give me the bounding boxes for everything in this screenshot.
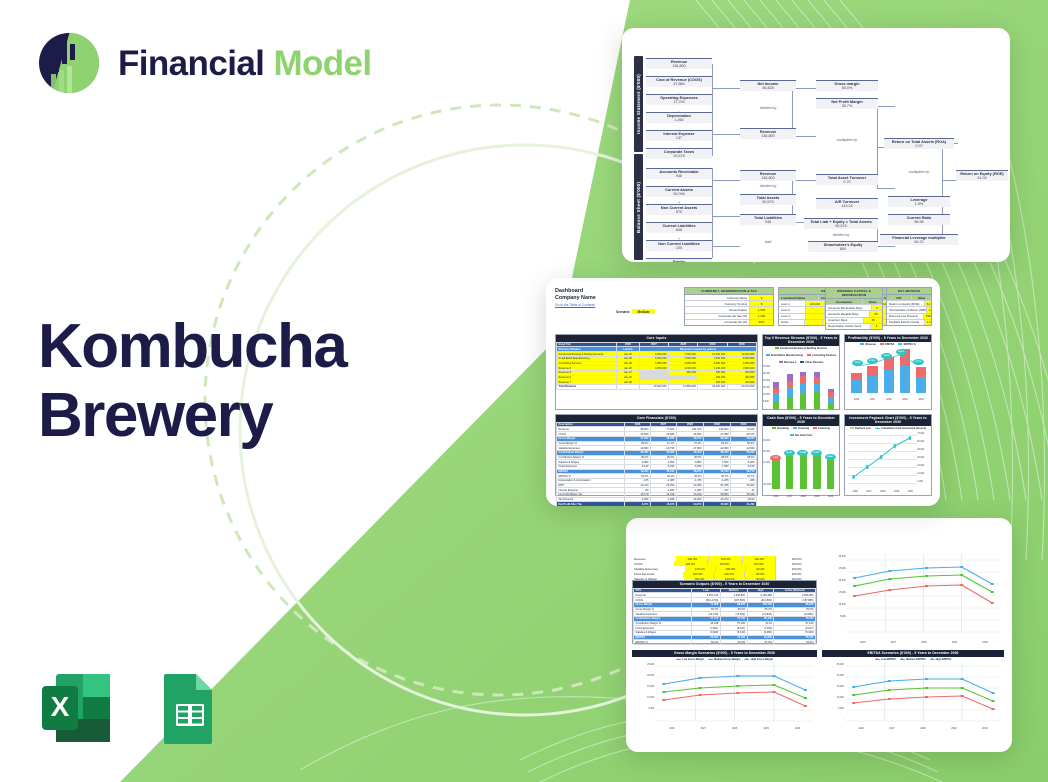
node-label: Equity xyxy=(646,260,712,263)
legend-item: Other Revenue xyxy=(800,361,823,364)
scenario-top-right-chart: 30,000 25,000 20,000 15,000 10,000 5,000… xyxy=(822,554,1004,646)
cell: Accounts Payable Days xyxy=(826,311,870,316)
cell: 61.03 xyxy=(925,301,931,306)
dashboard-toc-link[interactable]: Go to the Table of Contents xyxy=(555,303,596,307)
dupont-node: Net Profit Margin 35.7% xyxy=(816,98,878,109)
cell: Corporate tax rate (%) xyxy=(685,314,750,319)
bar-group xyxy=(773,382,779,409)
dupont-operator: divided by xyxy=(810,233,872,237)
node-value: 144.24 xyxy=(816,204,878,209)
bar-group xyxy=(787,374,793,408)
slide-canvas: Financial Model Kombucha Brewery X xyxy=(0,0,1048,782)
core-financials-body: Description 2026 2027 2028 2029 2030 Rev… xyxy=(556,422,757,506)
col: Loan/Grant Name xyxy=(779,295,819,300)
dupont-operator: divided by xyxy=(738,106,798,110)
legend-item: Payback year xyxy=(850,427,871,430)
currency-table: CURRENCY, DENOMINATION & TAX Currency Na… xyxy=(684,287,774,326)
legend-item: Net Cash Flow xyxy=(790,434,812,437)
x-axis: 2026 2027 2028 2029 2030 xyxy=(848,490,917,493)
panel-cash-flow: Cash flow ($'000) - 5 Years to December … xyxy=(762,414,840,496)
scenario-selector[interactable]: Scenario Medium xyxy=(616,309,655,314)
scenario-outputs-table: KPIs Low Medium High Active (Medium) Rev… xyxy=(633,588,816,645)
cell: 8,073 xyxy=(625,502,651,506)
cell[interactable]: 28 xyxy=(870,311,882,316)
panel-core-inputs: Core Inputs Excel Tab 2026 2027 2028 202… xyxy=(555,334,758,410)
node-value: 137 xyxy=(646,136,712,141)
node-value: 47,880 xyxy=(646,82,712,87)
brand-name-secondary: Model xyxy=(273,44,371,83)
core-financials-table: Description 2026 2027 2028 2029 2030 Rev… xyxy=(556,422,757,506)
panel-title: Core Financials ($'000) xyxy=(556,415,757,422)
panel-title: Core Inputs xyxy=(556,335,757,342)
cell: Grant xyxy=(779,320,805,325)
node-value: 60.22 xyxy=(880,240,958,245)
dupont-node: Corporate Taxes 20,676 xyxy=(646,148,712,159)
cell: Net Profit After Tax xyxy=(557,502,625,506)
cell: 144.1% xyxy=(927,307,931,312)
cell: EBITDA % xyxy=(634,640,692,645)
cell: 60.2% xyxy=(692,640,721,645)
circular-chart-logo-icon xyxy=(36,30,102,96)
node-value: 800 xyxy=(808,247,878,252)
dupont-node: Financial Leverage multiplier 60.22 xyxy=(880,234,958,245)
dupont-node: Cost of Revenue (COGS) 47,880 xyxy=(646,76,712,87)
data-label-bubble: 18,031 xyxy=(784,450,795,457)
legend-item: Cumulative Cash Investment (Source) xyxy=(875,427,926,430)
dupont-node: Accounts Receivable 948 xyxy=(646,168,712,179)
dupont-operator: multiplied by xyxy=(816,138,878,142)
key-metrics-table: KEY METRICS KPI Value Return on Equity (… xyxy=(886,287,932,326)
legend-item: High Gross Margin xyxy=(744,658,773,661)
table-row: Total Revenue20,300,00027,850,00030,400,… xyxy=(557,384,757,389)
cell: 20,300,000 xyxy=(639,384,668,389)
node-value: 848 xyxy=(646,228,712,233)
bar-group xyxy=(772,456,780,488)
legend-item: EBITDA % xyxy=(898,343,915,346)
bar-group xyxy=(800,453,808,489)
node-value: 50,576 xyxy=(740,200,796,205)
core-inputs-body: Excel Tab 2026 2027 2028 2029 2030 Reven… xyxy=(556,342,757,390)
panel-ebitda-scenarios: EBITDA Scenarios ($'000) - 5 Years to De… xyxy=(822,650,1004,736)
cell: Denomination xyxy=(685,307,750,312)
cell: Internal Rate of Return (IRR), % xyxy=(887,307,927,312)
panel-profitability: Profitability ($'000) - 5 Years to Decem… xyxy=(844,334,932,410)
panel-revenue-streams: Top 5 Revenue Streams ($'000) - 5 Years … xyxy=(762,334,840,410)
col: Value xyxy=(912,295,931,300)
node-value: 17,754 xyxy=(646,100,712,105)
panel-investment-payback: Investment Payback Chart ($'000) - 5 Yea… xyxy=(844,414,932,496)
dupont-node: Interest Expense 137 xyxy=(646,130,712,141)
revenue-streams-chart: 30,000 25,000 20,000 15,000 10,000 5,000 xyxy=(763,365,839,417)
x-axis: 2026 2027 2028 2029 2030 xyxy=(846,727,1001,730)
gross-margin-lines xyxy=(656,662,813,724)
cell: Corporate tax (%) xyxy=(685,320,750,325)
cell: Currency Symbol xyxy=(685,301,750,306)
x-axis: 2026 2027 2028 2029 2030 xyxy=(848,398,929,401)
cell[interactable]: 30% xyxy=(750,320,773,325)
x-axis: 2026 2027 2028 2029 2030 xyxy=(656,727,813,730)
node-value: 1,265 xyxy=(646,118,712,123)
legend-item: High EBITDA xyxy=(930,658,952,661)
dupont-node: Current Liabilities 848 xyxy=(646,222,712,233)
node-value: 58.98 xyxy=(888,220,950,225)
bar-group xyxy=(827,455,835,488)
node-value: 65.0% xyxy=(816,86,878,91)
screenshot-dashboard[interactable]: Dashboard Company Name Go to the Table o… xyxy=(546,278,940,506)
cell: 30,400,000 xyxy=(698,384,727,389)
legend-item: Low EBITDA xyxy=(875,658,896,661)
cell[interactable]: 3 xyxy=(872,305,882,310)
cell: Currency Name xyxy=(685,295,750,300)
dupont-node: Leverage 1.9% xyxy=(888,196,950,207)
cell: 21,290 xyxy=(731,502,757,506)
cell[interactable] xyxy=(805,320,824,325)
node-value: 0.97 xyxy=(884,144,954,149)
col: KPI xyxy=(887,295,912,300)
node-value: 948 xyxy=(740,220,796,225)
panel-core-financials: Core Financials ($'000) Description 2026… xyxy=(555,414,758,496)
dupont-node: Total Liabilities 948 xyxy=(740,214,796,225)
scenario-value[interactable]: Medium xyxy=(632,309,654,314)
cell: 57.0% xyxy=(747,640,774,645)
panel-title: Cash flow ($'000) - 5 Years to December … xyxy=(763,415,839,426)
node-value: 136,800 xyxy=(740,176,796,181)
cell: Payback Period (Years) xyxy=(887,320,925,325)
cell: 16,970 xyxy=(650,502,676,506)
payback-line xyxy=(848,431,917,487)
data-label-bubble: 38.7% xyxy=(896,349,907,356)
dashboard-title: Dashboard xyxy=(555,288,596,295)
cell: 548,128 xyxy=(924,314,931,319)
brand-name: Financial Model xyxy=(118,46,372,81)
dupont-node-roe: Return on Equity (ROE) 61.03 xyxy=(956,170,1008,181)
dashboard-canvas: Dashboard Company Name Go to the Table o… xyxy=(546,278,940,506)
node-value: 948 xyxy=(646,174,712,179)
panel-title: Top 5 Revenue Streams ($'000) - 5 Years … xyxy=(763,335,839,346)
legend-item: Operating xyxy=(772,427,789,430)
node-value: 20,676 xyxy=(646,154,712,159)
scenario-label: Scenario xyxy=(616,310,629,314)
page-title-line-1: Kombucha xyxy=(38,312,346,381)
cell: 24,970 xyxy=(676,502,703,506)
cell[interactable]: 1,000 xyxy=(750,314,773,319)
data-label-bubble: 7,805 xyxy=(770,455,781,462)
cell: 27,850,000 xyxy=(669,384,698,389)
dupont-node: Current Assets 50,006 xyxy=(646,186,712,197)
kpi-table-header: KEY METRICS xyxy=(887,288,931,295)
cash-flow-chart: 30,000 20,000 10,000 - (10,000) 7,805 18… xyxy=(763,438,839,498)
cell: Inventory Days xyxy=(826,318,864,323)
node-value: 2.70 xyxy=(816,180,878,185)
node-value: 136,800 xyxy=(740,134,796,139)
legend-item: Low Gross Margin xyxy=(676,658,704,661)
col: Value xyxy=(863,299,882,304)
node-value: 61.03 xyxy=(956,176,1008,181)
wc-table: WORKING CAPITAL & DEPRECIATION Assumptio… xyxy=(825,287,883,330)
legend-item: Kombucha Brewing & Bottling Services xyxy=(775,347,827,350)
cell: Loan 3 xyxy=(779,314,806,319)
legend-item: Financing xyxy=(813,427,830,430)
dupont-node: Operating Expenses 17,754 xyxy=(646,94,712,105)
dupont-node: Gross margin 65.0% xyxy=(816,80,878,91)
dashboard-company-name: Company Name xyxy=(555,295,596,302)
cell[interactable] xyxy=(806,307,824,312)
dupont-node: Return on Total Assets (ROA) 0.97 xyxy=(884,138,954,149)
dupont-node: Depreciation 1,265 xyxy=(646,112,712,123)
node-value: 1.9% xyxy=(888,202,950,207)
brand-name-primary: Financial xyxy=(118,44,273,83)
dupont-node: Current Ratio 58.98 xyxy=(888,214,950,225)
dupont-stripe-income-statement: Income Statement ($'000) xyxy=(634,56,643,152)
page-title: Kombucha Brewery xyxy=(38,312,346,451)
scenario-canvas: Revenue100.0%100.0%110.0%100.0% COGS100.… xyxy=(626,518,1012,752)
panel-gross-margin-scenarios: Gross Margin Scenarios ($'000) - 5 Years… xyxy=(632,650,817,736)
cell: Return on Equity (ROE) xyxy=(887,301,925,306)
cell[interactable] xyxy=(806,314,824,319)
profitability-chart: 32.3% 33.1% 36.2% 38.7% 32.7% 2026 2027 … xyxy=(845,347,931,401)
bar-group xyxy=(786,453,794,489)
legend-item: Investing xyxy=(793,427,809,430)
panel-title: Investment Payback Chart ($'000) - 5 Yea… xyxy=(845,415,931,426)
cell: Depreciation Useful Years xyxy=(826,324,871,329)
panel-title: Profitability ($'000) - 5 Years to Decem… xyxy=(845,335,931,342)
brand-logo: Financial Model xyxy=(36,30,372,96)
legend-item: Revenue 4 xyxy=(779,361,797,364)
screenshot-dupont-diagram[interactable]: Income Statement ($'000) Balance Sheet (… xyxy=(622,28,1010,262)
dupont-node: Revenue 136,800 xyxy=(740,128,796,139)
gross-margin-chart: 25,000 20,000 15,000 10,000 5,000 - xyxy=(632,662,817,730)
legend-item: Small Batch Manufacturing xyxy=(766,354,803,357)
table-row: Net Profit After Tax8,07316,97024,97035,… xyxy=(557,502,757,506)
legend-item: Revenue xyxy=(860,343,876,346)
panel-scenario-outputs: Scenario Outputs ($'000) - 5 Years to De… xyxy=(632,580,817,644)
dupont-node: A/R Turnover 144.24 xyxy=(816,198,878,209)
cell: Loan 1 xyxy=(779,301,806,306)
dupont-operator: divided by xyxy=(738,184,798,188)
app-icons: X xyxy=(36,668,228,748)
bar-group xyxy=(813,453,821,489)
dupont-node: Revenue 136,800 xyxy=(646,58,712,69)
cell[interactable]: 45 xyxy=(864,318,882,323)
cell[interactable]: $ xyxy=(750,295,773,300)
ebitda-chart: 25,000 20,000 15,000 10,000 5,000 - xyxy=(822,662,1004,730)
bar-group xyxy=(828,389,834,409)
dupont-node: Net Income 46,828 xyxy=(740,80,796,91)
legend-item: Medium EBITDA xyxy=(900,658,926,661)
node-value: 35.7% xyxy=(816,104,878,109)
legend-item: Consulting Services xyxy=(807,354,836,357)
panel-title: Scenario Outputs ($'000) - 5 Years to De… xyxy=(633,581,816,588)
cell: 34,100,000 xyxy=(727,384,756,389)
cell[interactable]: 1,000 xyxy=(750,307,773,312)
cell[interactable]: 5 xyxy=(871,324,882,329)
x-axis: 2026 2027 2028 2029 2030 xyxy=(847,641,1000,644)
svg-text:X: X xyxy=(51,691,70,722)
panel-title: Gross Margin Scenarios ($'000) - 5 Years… xyxy=(632,650,817,657)
node-value: 46,828 xyxy=(740,86,796,91)
dupont-stripe-balance-sheet: Balance Sheet ($'000) xyxy=(634,154,643,260)
dupont-node: Non Current Assets 570 xyxy=(646,204,712,215)
dupont-node: Non Current Liabilities 105 xyxy=(646,240,712,251)
dupont-operator: multiplied by xyxy=(888,170,950,174)
payback-chart: 72,000 60,000 48,000 36,000 24,000 12,00… xyxy=(845,431,931,493)
chart-legend: Kombucha Brewing & Bottling Services Sma… xyxy=(763,346,839,365)
cell: Discount (net Present) xyxy=(887,314,924,319)
cell[interactable]: 100,000 xyxy=(806,301,824,306)
screenshot-scenario-analysis[interactable]: Revenue100.0%100.0%110.0%100.0% COGS100.… xyxy=(626,518,1012,752)
dupont-node: Revenue 136,800 xyxy=(740,170,796,181)
microsoft-excel-icon[interactable]: X xyxy=(36,668,116,748)
chart-legend: Operating Investing Financing Net Cash F… xyxy=(763,426,839,438)
dupont-canvas: Income Statement ($'000) Balance Sheet (… xyxy=(622,28,1010,262)
node-value: 136,800 xyxy=(646,64,712,69)
scenario-assumptions-table: Revenue100.0%100.0%110.0%100.0% COGS100.… xyxy=(632,556,817,582)
dashboard-title-block: Dashboard Company Name Go to the Table o… xyxy=(555,288,596,307)
panel-title: EBITDA Scenarios ($'000) - 5 Years to De… xyxy=(822,650,1004,657)
dupont-node: Total Assets 50,576 xyxy=(740,194,796,205)
col: Assumption xyxy=(826,299,863,304)
ebitda-lines xyxy=(846,662,1001,724)
wc-table-header: WORKING CAPITAL & DEPRECIATION xyxy=(826,288,882,299)
data-label-bubble: 8,808 xyxy=(825,454,836,461)
dupont-node: Total Asset Turnover 2.70 xyxy=(816,174,878,185)
cell: Accounts Receivable Days xyxy=(826,305,872,310)
node-value: 105 xyxy=(646,246,712,251)
dupont-node: Total Liab + Equity = Total Assets 50,57… xyxy=(804,218,878,229)
cell: Total Revenue xyxy=(557,384,617,389)
cell: 52.0% xyxy=(774,640,816,645)
dupont-operator: Add xyxy=(738,240,798,244)
core-inputs-table: Excel Tab 2026 2027 2028 2029 2030 Reven… xyxy=(556,342,757,390)
bar-group xyxy=(800,372,806,409)
cell[interactable]: $ xyxy=(750,301,773,306)
node-value: 50,006 xyxy=(646,192,712,197)
cell: 1.0 Year xyxy=(925,320,931,325)
currency-table-header: CURRENCY, DENOMINATION & TAX xyxy=(685,288,773,295)
data-label-bubble: 33.1% xyxy=(867,358,878,365)
page-title-line-2: Brewery xyxy=(38,381,346,450)
legend-item: EBITDA xyxy=(880,343,895,346)
google-sheets-icon[interactable] xyxy=(148,668,228,748)
legend-item: Medium Gross Margin xyxy=(708,658,740,661)
node-value: 570 xyxy=(646,210,712,215)
dupont-node: Equity 49,629 xyxy=(646,258,712,262)
table-row: EBITDA %60.2%52.0%57.0%52.0% xyxy=(634,640,816,645)
x-axis: 2026 2027 2028 2029 2030 xyxy=(769,495,837,498)
cell: 52.0% xyxy=(720,640,747,645)
node-value: 50,576 xyxy=(804,224,878,229)
bar-group xyxy=(814,372,820,409)
cell: Loan 2 xyxy=(779,307,806,312)
dupont-node: Shareholder's Equity 800 xyxy=(808,241,878,252)
scenario-top-right-lines xyxy=(847,554,1000,638)
cell: 35,830 xyxy=(703,502,730,506)
